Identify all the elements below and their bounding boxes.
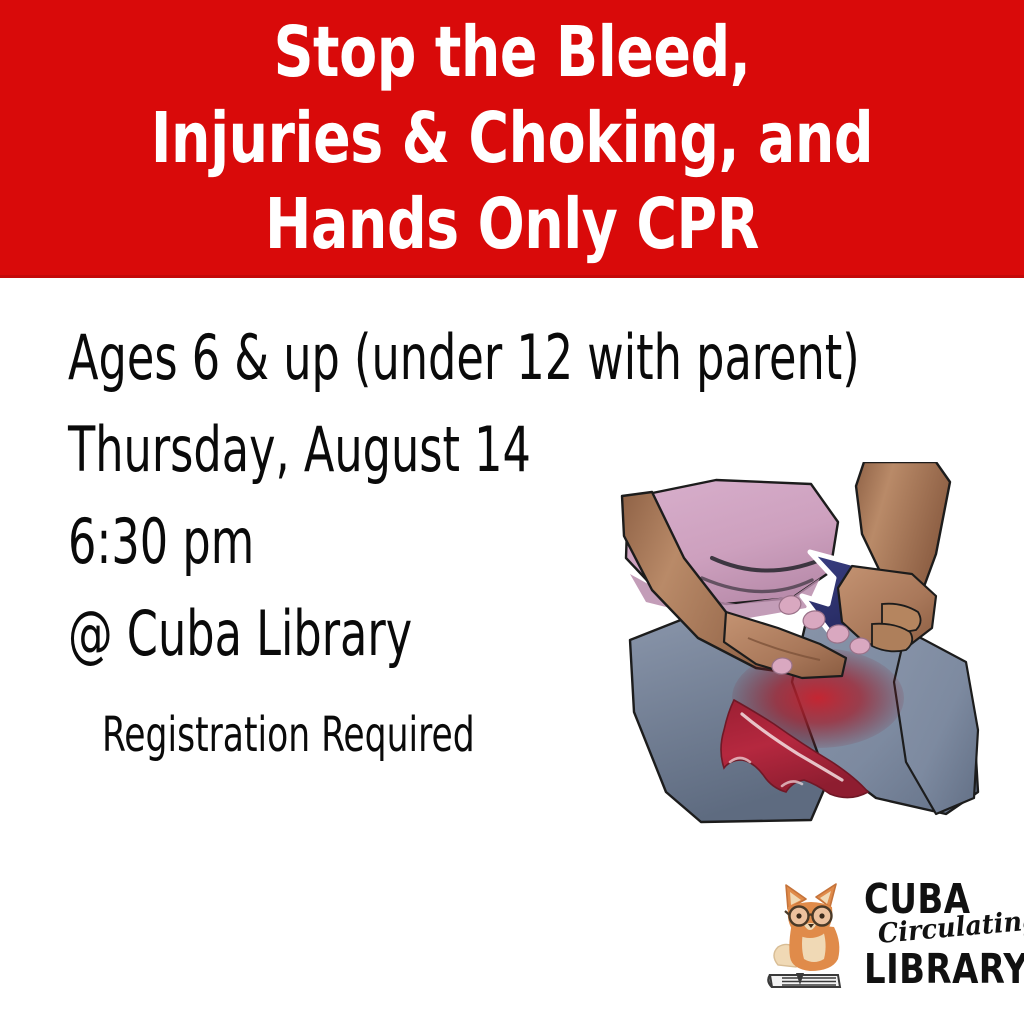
title-line-3: Hands Only CPR: [61, 181, 962, 267]
logo-wordmark: CUBA Circulating LIBRARY: [864, 879, 1024, 992]
fox-with-glasses-icon: [766, 879, 858, 991]
logo-text-library: LIBRARY: [864, 949, 1024, 990]
fox-eye-left: [796, 913, 801, 918]
title-line-2: Injuries & Choking, and: [61, 95, 962, 181]
header-banner: Stop the Bleed, Injuries & Choking, and …: [0, 0, 1024, 278]
direct-pressure-bleeding-wound-illustration: [606, 462, 1024, 840]
fox-eye-right: [819, 913, 824, 918]
title-line-1: Stop the Bleed,: [61, 9, 962, 95]
detail-line-ages: Ages 6 & up (under 12 with parent): [68, 312, 732, 404]
cuba-circulating-library-logo: CUBA Circulating LIBRARY: [766, 872, 1014, 998]
page-title: Stop the Bleed, Injuries & Choking, and …: [61, 9, 962, 267]
flyer-canvas: Stop the Bleed, Injuries & Choking, and …: [0, 0, 1024, 1024]
